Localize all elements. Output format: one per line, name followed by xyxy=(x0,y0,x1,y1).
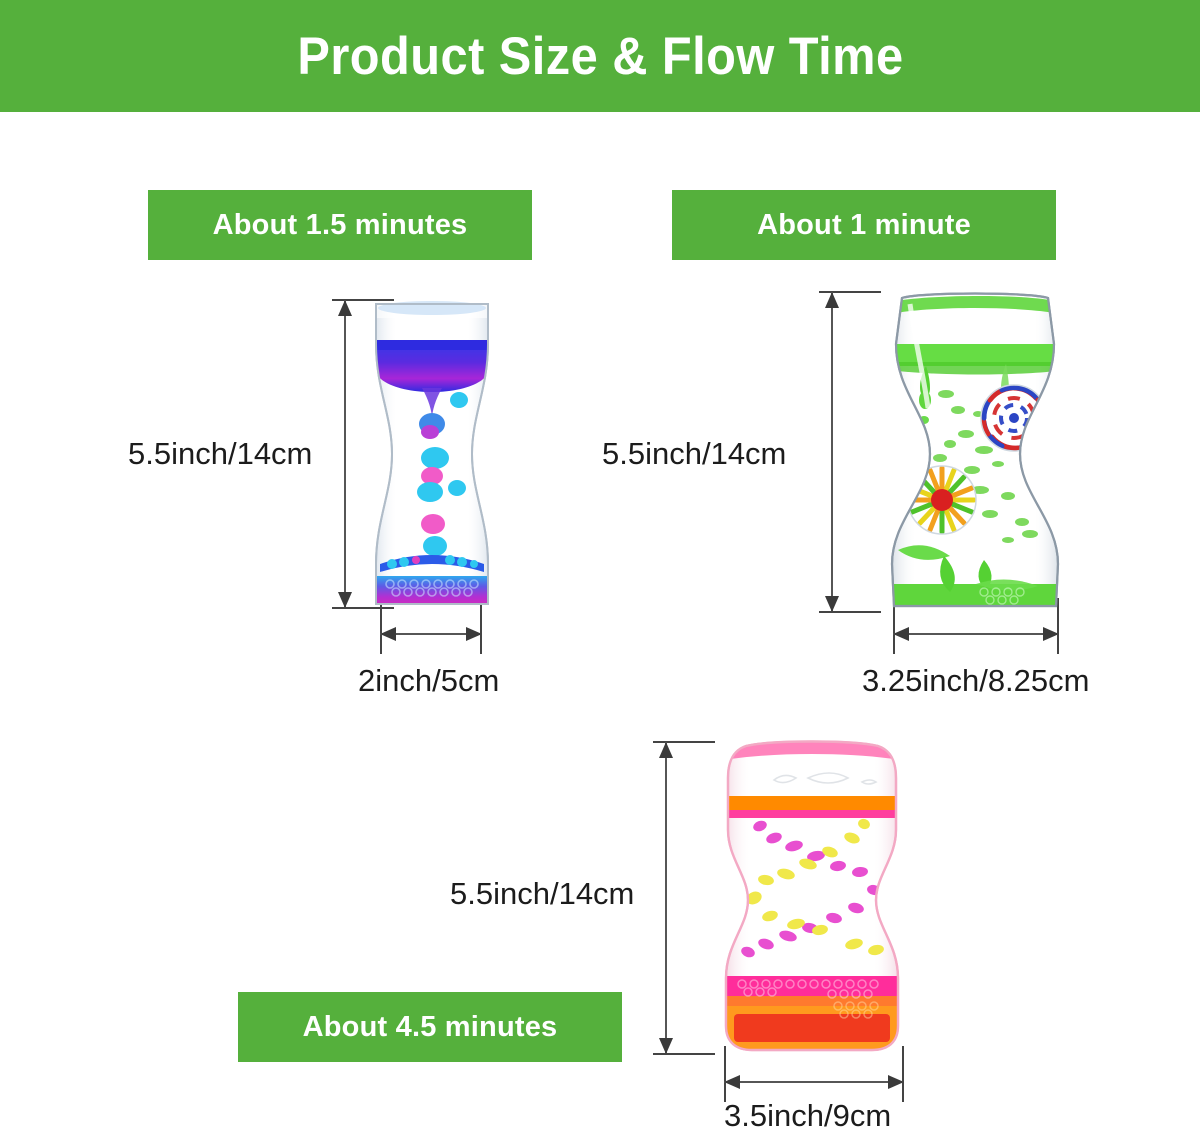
width-label-product-2: 3.25inch/8.25cm xyxy=(862,663,1089,699)
width-label-product-3: 3.5inch/9cm xyxy=(724,1098,891,1134)
arrow-left-icon xyxy=(893,627,909,641)
arrow-up-icon xyxy=(659,742,673,758)
dimension-shaft xyxy=(893,633,1059,635)
height-dimension-line-product-3 xyxy=(658,742,674,1054)
arrow-left-icon xyxy=(380,627,396,641)
flow-time-badge-product-3: About 4.5 minutes xyxy=(238,992,622,1062)
width-dimension-line-product-2 xyxy=(893,626,1059,642)
liquid-motion-timer-product-2 xyxy=(880,288,1070,618)
pinwheel-lower-left xyxy=(908,466,976,534)
arrow-down-icon xyxy=(825,596,839,612)
dimension-cap-bottom xyxy=(819,611,881,613)
page-title: Product Size & Flow Time xyxy=(297,26,903,87)
header-banner: Product Size & Flow Time xyxy=(0,0,1200,112)
arrow-left-icon xyxy=(724,1075,740,1089)
flow-time-badge-product-2: About 1 minute xyxy=(672,190,1056,260)
width-dimension-line-product-3 xyxy=(724,1074,904,1090)
height-dimension-line-product-1 xyxy=(337,300,353,608)
dimension-shaft xyxy=(344,300,346,608)
height-label-product-1: 5.5inch/14cm xyxy=(128,436,312,472)
arrow-down-icon xyxy=(338,592,352,608)
flow-time-label-product-1: About 1.5 minutes xyxy=(213,209,468,242)
arrow-up-icon xyxy=(825,292,839,308)
height-label-product-2: 5.5inch/14cm xyxy=(602,436,786,472)
liquid-motion-timer-product-1 xyxy=(362,296,502,612)
flow-time-label-product-2: About 1 minute xyxy=(757,209,971,242)
dimension-cap-bottom xyxy=(653,1053,715,1055)
flow-time-badge-product-1: About 1.5 minutes xyxy=(148,190,532,260)
width-label-product-1: 2inch/5cm xyxy=(358,663,499,699)
arrow-up-icon xyxy=(338,300,352,316)
arrow-down-icon xyxy=(659,1038,673,1054)
dimension-shaft xyxy=(724,1081,904,1083)
pinwheel-upper-right xyxy=(981,385,1047,451)
width-dimension-line-product-1 xyxy=(380,626,482,642)
height-dimension-line-product-2 xyxy=(824,292,840,612)
infographic-page: Product Size & Flow Time About 1.5 minut… xyxy=(0,0,1200,1139)
height-label-product-3: 5.5inch/14cm xyxy=(450,876,634,912)
dimension-shaft xyxy=(831,292,833,612)
liquid-motion-timer-product-3 xyxy=(712,738,912,1058)
flow-time-label-product-3: About 4.5 minutes xyxy=(303,1011,558,1044)
dimension-shaft xyxy=(665,742,667,1054)
